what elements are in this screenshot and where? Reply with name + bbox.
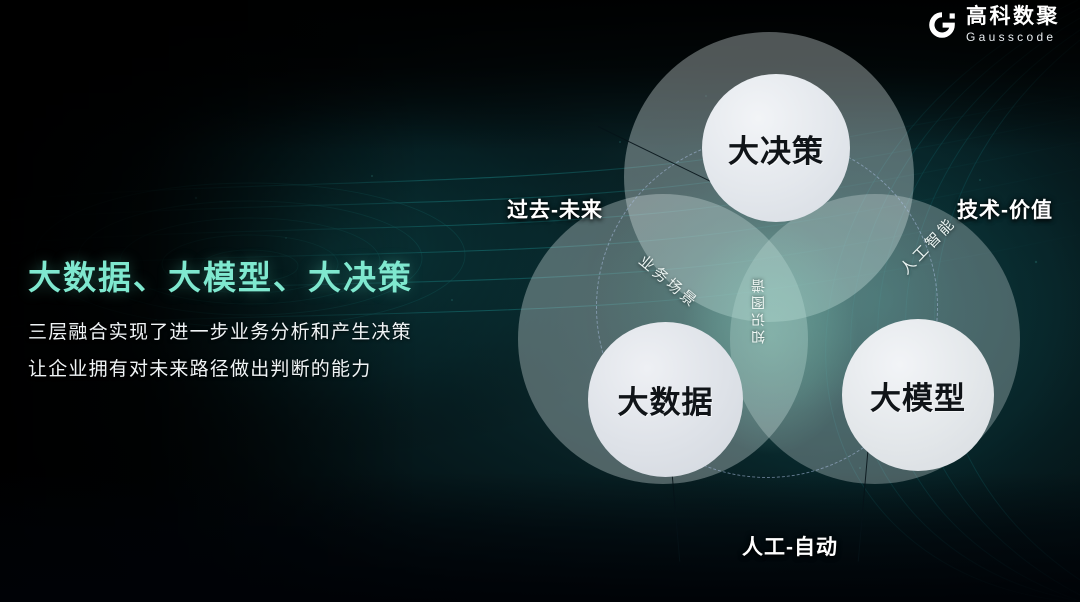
subtitle-line-1: 三层融合实现了进一步业务分析和产生决策 xyxy=(28,314,458,351)
venn-circle-bigdata-label: 大数据 xyxy=(618,377,714,422)
brand-name-cn: 高科数聚 xyxy=(966,6,1060,27)
venn-circle-bigmodel-label: 大模型 xyxy=(870,373,966,418)
brand-logo: 高科数聚 Gausscode xyxy=(927,6,1060,43)
venn-circle-decision[interactable]: 大决策 xyxy=(702,74,850,222)
venn-diagram: 大决策 大数据 大模型 业务场景 人工智能 知识图谱 xyxy=(480,14,1060,594)
slide-canvas: 大决策 大数据 大模型 业务场景 人工智能 知识图谱 过去-未来 技术-价值 人… xyxy=(0,0,1080,602)
subtitle-line-2: 让企业拥有对未来路径做出判断的能力 xyxy=(28,351,458,388)
axis-label-manual-auto: 人工-自动 xyxy=(742,531,838,561)
venn-circle-bigmodel[interactable]: 大模型 xyxy=(842,319,994,471)
copy-block: 大数据、大模型、大决策 三层融合实现了进一步业务分析和产生决策 让企业拥有对未来… xyxy=(28,258,458,388)
page-title: 大数据、大模型、大决策 xyxy=(28,258,458,298)
axis-label-past-future: 过去-未来 xyxy=(507,194,603,224)
venn-circle-bigdata[interactable]: 大数据 xyxy=(588,322,743,477)
venn-circle-decision-label: 大决策 xyxy=(728,126,824,171)
brand-logo-text: 高科数聚 Gausscode xyxy=(966,6,1060,43)
brand-name-en: Gausscode xyxy=(966,31,1060,43)
overlap-label-knowledge-graph: 知识图谱 xyxy=(748,276,768,344)
gausscode-g-mark-icon xyxy=(927,10,957,40)
axis-label-tech-value: 技术-价值 xyxy=(957,194,1053,224)
